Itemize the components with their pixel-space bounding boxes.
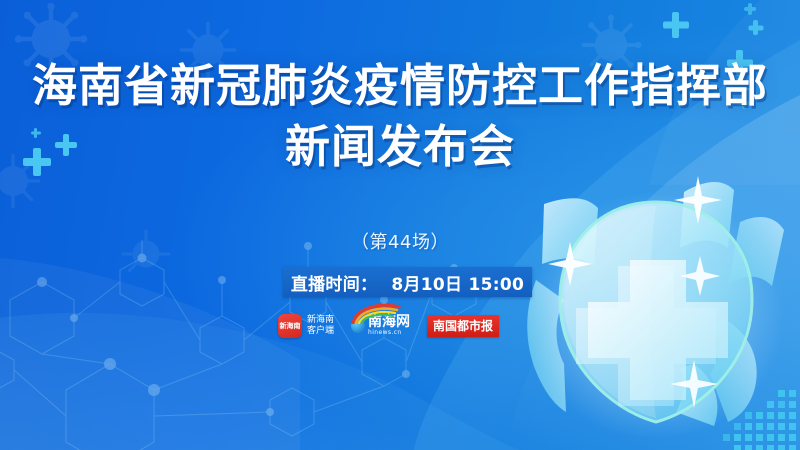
news-conference-poster: 海南省新冠肺炎疫情防控工作指挥部 新闻发布会 （第44场） 直播时间： 8月10…	[0, 0, 800, 450]
title-line-1: 海南省新冠肺炎疫情防控工作指挥部	[0, 62, 800, 111]
nanguo-badge: 南国都市报	[427, 315, 499, 337]
live-time-value: 8月10日 15:00	[391, 270, 524, 295]
plus-cross-icon	[672, 12, 679, 38]
page-title: 海南省新冠肺炎疫情防控工作指挥部 新闻发布会	[0, 62, 800, 171]
logo-xinhainan-app[interactable]: 新海南 新海南 客户端	[278, 311, 334, 341]
xinhainan-app-icon: 新海南	[278, 314, 302, 338]
plus-cross-icon	[753, 20, 758, 35]
logo-hinews[interactable]: 南海网 hinews.cn	[351, 311, 410, 341]
media-logo-row: 新海南 新海南 客户端 南海网 hinews.cn 南国都市报	[278, 309, 522, 343]
hinews-url: hinews.cn	[368, 329, 410, 337]
session-number-label: （第44场）	[0, 228, 800, 254]
xinhainan-app-label: 新海南 客户端	[307, 315, 334, 337]
plus-cross-icon	[748, 3, 752, 15]
title-line-2: 新闻发布会	[0, 123, 800, 172]
dot-grid-icon	[690, 388, 800, 450]
xinhainan-app-icon-text: 新海南	[280, 323, 301, 330]
live-time-label: 直播时间：	[291, 270, 378, 295]
logo-nanguo-metropolis-daily[interactable]: 南国都市报	[427, 311, 499, 341]
xinhainan-label-line-2: 客户端	[307, 326, 334, 337]
live-time-bar: 直播时间： 8月10日 15:00	[283, 267, 532, 297]
rainbow-arc-icon	[349, 304, 423, 324]
xinhainan-label-line-1: 新海南	[307, 315, 334, 326]
